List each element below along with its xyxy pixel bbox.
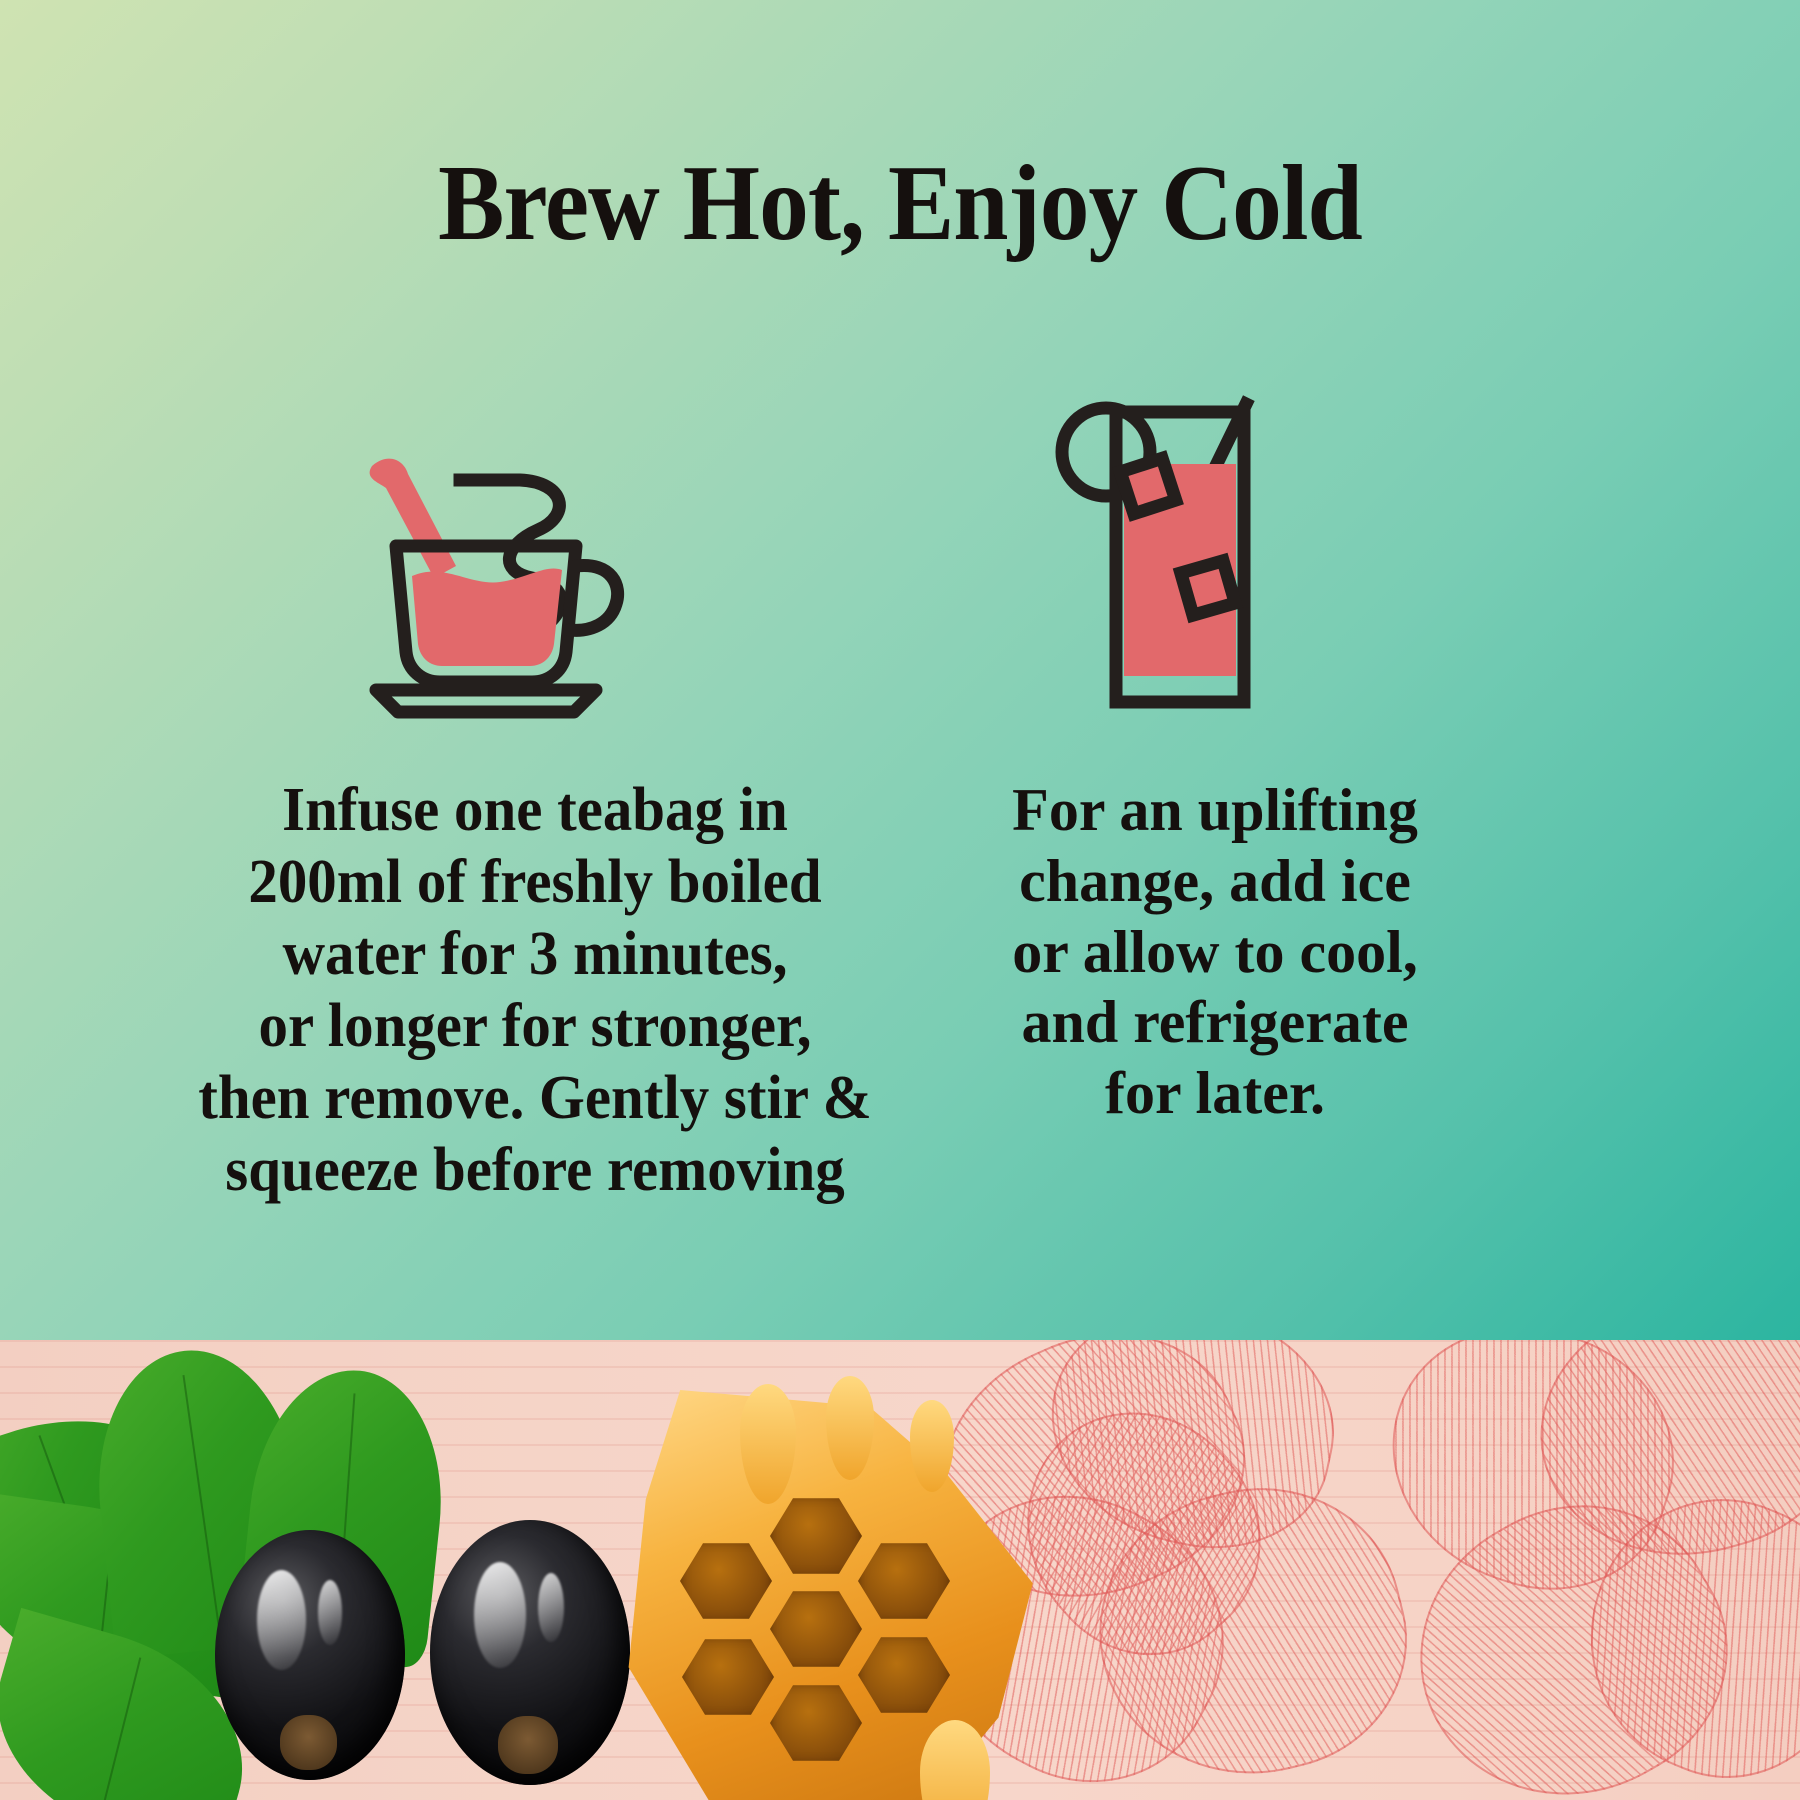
iced-drink-glass-icon [1040,390,1340,720]
icon-row [0,390,1800,730]
page-title: Brew Hot, Enjoy Cold [72,150,1728,258]
ingredients-photo-strip [0,1340,1800,1800]
blackcurrant-berry [430,1520,630,1785]
poster: Brew Hot, Enjoy Cold [0,0,1800,1800]
instruction-line: and refrigerate [935,987,1495,1058]
instruction-line: For an uplifting [935,775,1495,846]
instruction-line: then remove. Gently stir & [117,1063,953,1135]
instruction-line: for later. [935,1058,1495,1129]
honeycomb [620,1390,1050,1800]
enjoy-cold-instructions: For an uplifting change, add ice or allo… [935,775,1495,1129]
teacup-with-steam-icon [360,390,660,720]
blackcurrant-berry [215,1530,405,1780]
brew-hot-instructions: Infuse one teabag in 200ml of freshly bo… [117,775,953,1206]
instruction-line: water for 3 minutes, [117,919,953,991]
instruction-line: 200ml of freshly boiled [117,847,953,919]
instruction-line: squeeze before removing [117,1135,953,1207]
instruction-line: or allow to cool, [935,917,1495,988]
instruction-line: or longer for stronger, [117,991,953,1063]
hibiscus-flower-illustration [1380,1340,1800,1800]
instruction-line: Infuse one teabag in [117,775,953,847]
instruction-line: change, add ice [935,846,1495,917]
